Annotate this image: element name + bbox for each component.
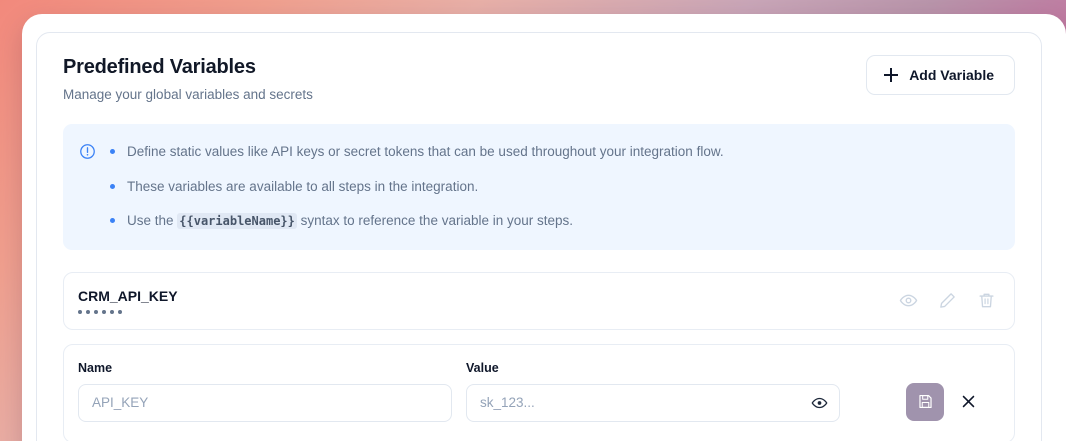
variable-edit-form: Name Value (63, 344, 1015, 441)
variable-name-input[interactable] (78, 384, 452, 422)
name-field-label: Name (78, 361, 452, 375)
close-x-icon (960, 393, 977, 410)
add-variable-button[interactable]: Add Variable (866, 55, 1015, 95)
variable-value-input[interactable] (466, 384, 840, 422)
page-title: Predefined Variables (63, 55, 313, 79)
app-window: Predefined Variables Manage your global … (22, 14, 1066, 441)
header-text-block: Predefined Variables Manage your global … (63, 55, 313, 102)
info-bullet-list: Define static values like API keys or se… (110, 140, 724, 233)
variable-masked-value (78, 310, 178, 314)
value-field-group: Value (466, 361, 840, 422)
plus-icon (884, 68, 898, 82)
info-circle-icon (79, 143, 96, 160)
info-bullet-text: These variables are available to all ste… (127, 177, 478, 197)
info-bullet-text: Define static values like API keys or se… (127, 142, 724, 162)
eye-icon[interactable] (811, 394, 828, 411)
variable-row-actions (899, 291, 996, 310)
info-bullet-item: Use the {{variableName}} syntax to refer… (110, 209, 724, 233)
bullet-dot-icon (110, 184, 115, 189)
info-banner: Define static values like API keys or se… (63, 124, 1015, 250)
info-bullet-text: Use the {{variableName}} syntax to refer… (127, 211, 573, 231)
add-variable-label: Add Variable (909, 67, 994, 83)
save-variable-button[interactable] (906, 383, 944, 421)
form-action-buttons (906, 383, 980, 422)
save-disk-icon (917, 393, 934, 410)
name-field-group: Name (78, 361, 452, 422)
delete-icon[interactable] (977, 291, 996, 310)
value-field-label: Value (466, 361, 840, 375)
info-bullet-item: Define static values like API keys or se… (110, 140, 724, 164)
bullet-dot-icon (110, 149, 115, 154)
variable-info: CRM_API_KEY (78, 288, 178, 314)
reveal-icon[interactable] (899, 291, 918, 310)
variable-syntax-code: {{variableName}} (177, 213, 297, 229)
panel-header: Predefined Variables Manage your global … (63, 55, 1015, 102)
variable-row[interactable]: CRM_API_KEY (63, 272, 1015, 330)
page-subtitle: Manage your global variables and secrets (63, 87, 313, 102)
variable-name: CRM_API_KEY (78, 288, 178, 304)
bullet-dot-icon (110, 218, 115, 223)
predefined-variables-panel: Predefined Variables Manage your global … (36, 32, 1042, 441)
cancel-edit-button[interactable] (956, 390, 980, 414)
info-bullet-item: These variables are available to all ste… (110, 175, 724, 199)
edit-icon[interactable] (938, 291, 957, 310)
